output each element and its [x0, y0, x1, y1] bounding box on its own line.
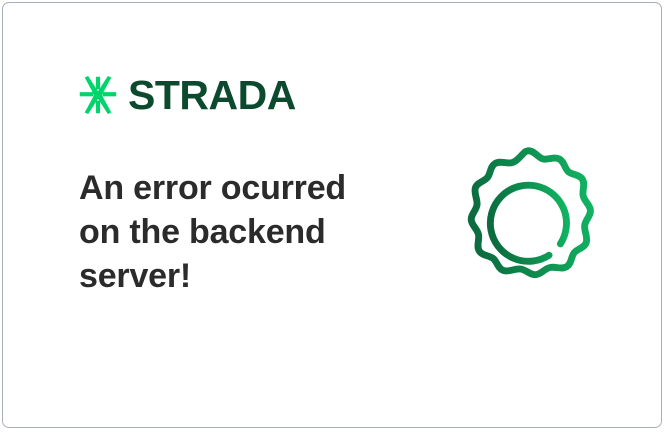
strada-asterisk-icon	[79, 76, 117, 114]
gear-outline-icon	[447, 141, 609, 303]
gear-illustration	[447, 141, 609, 303]
error-message: An error ocurred on the backend server!	[79, 166, 379, 298]
error-message-line-2: on the backend	[79, 210, 379, 254]
brand-wordmark: STRADA	[128, 75, 296, 116]
error-message-line-3: server!	[79, 254, 379, 298]
error-message-line-1: An error ocurred	[79, 166, 379, 210]
error-card: STRADA An error ocurred on the backend s…	[2, 2, 662, 428]
brand-lockup: STRADA	[79, 73, 296, 117]
